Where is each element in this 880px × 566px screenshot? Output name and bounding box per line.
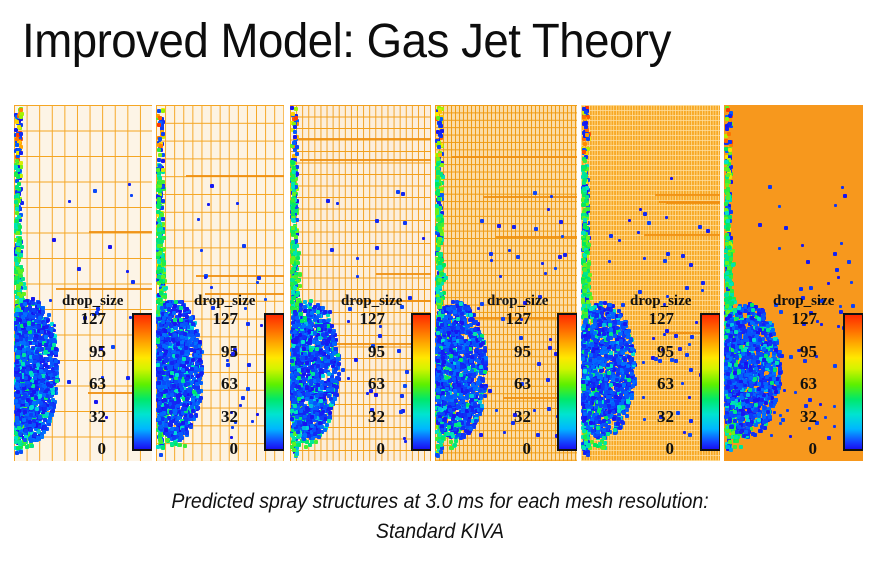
droplet <box>19 115 23 119</box>
droplet <box>314 440 318 444</box>
droplet <box>195 382 199 386</box>
droplet <box>173 411 177 415</box>
droplet <box>41 310 45 314</box>
droplet <box>157 405 161 409</box>
droplet <box>158 438 162 442</box>
droplet <box>16 404 20 408</box>
droplet <box>174 300 178 304</box>
droplet <box>32 308 36 312</box>
droplet <box>176 400 180 404</box>
droplet <box>295 152 299 156</box>
droplet <box>172 311 176 315</box>
droplet <box>157 357 161 361</box>
droplet <box>14 258 18 262</box>
droplet <box>167 328 171 332</box>
droplet <box>37 304 41 308</box>
droplet <box>292 219 296 223</box>
droplet <box>157 298 161 302</box>
droplet <box>35 386 39 390</box>
droplet <box>170 371 174 375</box>
droplet <box>230 411 233 414</box>
droplet <box>158 433 162 437</box>
droplet <box>169 357 173 361</box>
droplet <box>42 393 46 397</box>
droplet <box>17 215 21 219</box>
droplet <box>27 384 31 388</box>
droplet <box>265 401 269 405</box>
droplet <box>33 376 37 380</box>
droplet <box>25 445 29 449</box>
droplet <box>178 313 182 317</box>
droplet <box>38 316 42 320</box>
droplet <box>16 342 20 346</box>
droplet-scatter <box>156 105 284 461</box>
droplet <box>40 435 44 439</box>
droplet <box>35 407 39 411</box>
droplet <box>52 238 56 242</box>
droplet <box>157 201 161 205</box>
droplet <box>192 390 196 394</box>
droplet <box>162 316 166 320</box>
droplet <box>173 304 177 308</box>
droplet <box>185 431 189 435</box>
droplet <box>49 299 52 302</box>
droplet <box>156 168 160 172</box>
droplet <box>158 116 162 120</box>
droplet <box>43 406 47 410</box>
droplet <box>185 367 189 371</box>
droplet <box>170 361 174 365</box>
page-title: Improved Model: Gas Jet Theory <box>22 14 816 70</box>
droplet <box>256 281 259 284</box>
droplet <box>31 322 35 326</box>
droplet <box>16 284 20 288</box>
droplet <box>260 324 263 327</box>
droplet <box>162 247 166 251</box>
droplet <box>15 143 19 147</box>
droplet <box>175 354 179 358</box>
droplet <box>189 316 193 320</box>
droplet <box>230 436 233 439</box>
droplet <box>141 328 144 331</box>
droplet <box>293 209 297 213</box>
spray-panel-2: drop_size1279563320 <box>156 105 284 461</box>
droplet <box>19 161 23 165</box>
droplet <box>168 316 172 320</box>
droplet <box>327 419 331 423</box>
droplet <box>47 419 51 423</box>
droplet <box>210 286 213 289</box>
droplet <box>190 330 194 334</box>
droplet <box>189 414 193 418</box>
droplet <box>191 409 195 413</box>
droplet <box>198 340 202 344</box>
droplet <box>157 348 161 352</box>
droplet <box>43 363 47 367</box>
droplet <box>292 170 296 174</box>
droplet <box>105 416 108 419</box>
droplet <box>55 379 59 383</box>
droplet <box>194 366 198 370</box>
droplet <box>94 400 98 404</box>
droplet <box>24 308 28 312</box>
droplet <box>29 413 33 417</box>
droplet <box>194 345 198 349</box>
droplet <box>183 332 187 336</box>
droplet <box>39 357 43 361</box>
droplet <box>159 279 163 283</box>
droplet <box>183 407 187 411</box>
droplet <box>44 335 48 339</box>
droplet <box>95 311 99 315</box>
droplet <box>157 381 161 385</box>
droplet <box>290 260 294 264</box>
droplet <box>159 227 163 231</box>
droplet <box>16 168 20 172</box>
droplet <box>178 393 182 397</box>
droplet <box>39 401 43 405</box>
droplet <box>83 316 87 320</box>
droplet <box>291 316 295 320</box>
droplet <box>180 351 184 355</box>
droplet <box>38 336 42 340</box>
droplet <box>158 181 162 185</box>
droplet <box>22 418 26 422</box>
droplet <box>38 415 42 419</box>
spray-panel-3: drop_size1279563320 <box>290 105 431 461</box>
droplet <box>19 270 23 274</box>
droplet <box>17 292 21 296</box>
droplet <box>21 369 25 373</box>
droplet <box>130 194 133 197</box>
droplet <box>158 176 162 180</box>
droplet <box>204 276 207 279</box>
droplet <box>163 398 167 402</box>
droplet <box>296 256 300 260</box>
droplet <box>210 184 214 188</box>
droplet <box>54 351 58 355</box>
droplet <box>327 394 331 398</box>
droplet <box>45 412 49 416</box>
droplet <box>126 270 129 273</box>
droplet <box>291 240 295 244</box>
droplet <box>68 200 71 203</box>
droplet <box>170 393 174 397</box>
droplet <box>247 363 251 367</box>
droplet <box>48 356 52 360</box>
droplet <box>189 425 193 429</box>
droplet <box>156 210 160 214</box>
droplet <box>131 280 135 284</box>
droplet <box>14 367 18 371</box>
droplet <box>304 445 308 449</box>
droplet <box>173 333 177 337</box>
droplet <box>233 348 237 352</box>
droplet <box>19 450 23 454</box>
droplet <box>47 370 51 374</box>
droplet <box>16 308 20 312</box>
droplet <box>22 348 26 352</box>
droplet <box>297 443 301 447</box>
droplet <box>128 183 131 186</box>
droplet <box>17 346 21 350</box>
droplet <box>157 205 161 209</box>
droplet <box>303 414 307 418</box>
droplet <box>207 203 210 206</box>
droplet <box>291 226 295 230</box>
droplet <box>231 352 235 356</box>
droplet <box>53 372 57 376</box>
droplet <box>185 307 189 311</box>
droplet <box>26 347 30 351</box>
droplet <box>174 326 178 330</box>
droplet <box>50 333 54 337</box>
droplet <box>299 312 303 316</box>
droplet <box>181 428 185 432</box>
droplet <box>31 346 35 350</box>
droplet <box>54 347 58 351</box>
droplet <box>231 426 234 429</box>
droplet <box>195 405 199 409</box>
droplet <box>158 421 162 425</box>
droplet <box>77 267 81 271</box>
droplet <box>22 292 26 296</box>
droplet <box>294 275 298 279</box>
droplet <box>23 438 27 442</box>
droplet <box>226 359 229 362</box>
droplet <box>38 375 42 379</box>
droplet <box>25 361 29 365</box>
droplet <box>164 423 168 427</box>
droplet <box>158 137 162 141</box>
droplet <box>46 320 49 323</box>
droplet <box>234 421 237 424</box>
droplet <box>19 253 23 257</box>
droplet <box>29 439 33 443</box>
droplet <box>29 371 33 375</box>
droplet <box>269 407 272 410</box>
droplet <box>101 376 104 379</box>
droplet <box>169 366 173 370</box>
droplet <box>157 260 161 264</box>
droplet <box>23 410 27 414</box>
droplet <box>40 379 44 383</box>
droplet <box>161 199 165 203</box>
droplet <box>30 405 34 409</box>
droplet <box>14 270 18 274</box>
droplet <box>296 261 300 265</box>
droplet <box>16 355 20 359</box>
droplet <box>17 125 21 129</box>
droplet <box>15 185 19 189</box>
droplet <box>246 322 250 326</box>
droplet <box>196 374 200 378</box>
droplet <box>161 168 165 172</box>
droplet <box>36 436 40 440</box>
spray-panel-1: drop_size1279563320 <box>14 105 152 461</box>
droplet <box>298 273 302 277</box>
droplet <box>26 367 30 371</box>
droplet <box>328 411 332 415</box>
droplet <box>45 357 49 361</box>
droplet <box>19 108 23 112</box>
droplet <box>17 426 21 430</box>
droplet <box>49 384 53 388</box>
droplet <box>292 437 296 441</box>
droplet <box>46 376 50 380</box>
droplet <box>292 245 296 249</box>
droplet <box>164 389 168 393</box>
droplet <box>236 202 239 205</box>
droplet <box>15 360 19 364</box>
droplet <box>158 251 162 255</box>
droplet <box>186 357 190 361</box>
droplet <box>195 333 199 337</box>
droplet <box>163 287 167 291</box>
droplet <box>159 269 163 273</box>
droplet <box>327 382 331 386</box>
droplet <box>18 373 22 377</box>
droplet <box>305 440 309 444</box>
droplet <box>40 330 44 334</box>
droplet <box>18 225 22 229</box>
droplet <box>158 401 162 405</box>
droplet <box>24 429 28 433</box>
droplet <box>185 350 189 354</box>
droplet <box>26 398 30 402</box>
droplet <box>16 412 20 416</box>
droplet <box>190 325 194 329</box>
droplet <box>33 369 37 373</box>
droplet <box>39 369 43 373</box>
droplet <box>308 443 312 447</box>
droplet <box>157 218 161 222</box>
droplet <box>185 397 189 401</box>
droplet <box>23 286 27 290</box>
droplet <box>197 390 201 394</box>
droplet <box>172 436 176 440</box>
droplet <box>293 125 297 129</box>
droplet <box>325 423 329 427</box>
droplet <box>15 416 19 420</box>
droplet <box>33 338 37 342</box>
droplet <box>198 358 202 362</box>
droplet <box>291 161 295 165</box>
droplet <box>157 331 161 335</box>
droplet <box>161 371 165 375</box>
droplet <box>164 428 168 432</box>
droplet <box>161 275 165 279</box>
droplet <box>51 391 55 395</box>
droplet <box>174 380 178 384</box>
droplet <box>179 306 183 310</box>
droplet <box>47 313 51 317</box>
droplet <box>15 207 19 211</box>
droplet <box>290 282 294 286</box>
droplet-scatter <box>14 105 152 461</box>
droplet <box>159 425 163 429</box>
droplet <box>16 390 20 394</box>
droplet <box>176 342 180 346</box>
droplet <box>167 307 171 311</box>
droplet <box>256 413 259 416</box>
droplet <box>161 217 165 221</box>
droplet <box>176 404 180 408</box>
droplet <box>19 151 23 155</box>
droplet <box>21 277 25 281</box>
figure-panel-strip: drop_size1279563320drop_size1279563320dr… <box>14 105 863 461</box>
droplet <box>31 297 35 301</box>
droplet <box>293 251 297 255</box>
droplet <box>180 335 184 339</box>
droplet <box>14 313 18 317</box>
droplet <box>189 371 193 375</box>
droplet <box>28 420 32 424</box>
droplet <box>126 376 130 380</box>
droplet <box>161 159 165 163</box>
droplet <box>157 123 161 127</box>
droplet <box>257 276 261 280</box>
droplet <box>251 420 254 423</box>
droplet <box>264 298 267 301</box>
droplet <box>54 366 58 370</box>
droplet <box>111 345 115 349</box>
droplet <box>157 148 161 152</box>
droplet <box>52 343 56 347</box>
droplet <box>44 343 48 347</box>
droplet <box>293 130 297 134</box>
droplet <box>294 107 298 111</box>
droplet <box>165 438 169 442</box>
droplet <box>226 363 230 367</box>
droplet <box>160 213 164 217</box>
droplet <box>16 231 20 235</box>
droplet <box>23 330 27 334</box>
droplet <box>292 296 296 300</box>
droplet <box>132 384 135 387</box>
droplet <box>161 109 165 113</box>
droplet <box>199 348 202 351</box>
droplet <box>43 418 47 422</box>
droplet <box>16 446 20 450</box>
droplet <box>199 396 203 400</box>
droplet <box>303 305 307 309</box>
droplet <box>157 417 161 421</box>
droplet <box>170 427 174 431</box>
droplet <box>191 358 195 362</box>
droplet <box>14 276 18 280</box>
droplet <box>183 444 187 448</box>
droplet <box>164 359 168 363</box>
droplet <box>158 373 162 377</box>
droplet <box>15 137 19 141</box>
droplet <box>180 323 184 327</box>
droplet <box>239 404 242 407</box>
droplet <box>161 320 165 324</box>
droplet <box>53 324 56 327</box>
droplet <box>31 301 35 305</box>
droplet <box>292 267 296 271</box>
droplet <box>179 318 183 322</box>
droplet <box>93 189 97 193</box>
droplet <box>22 353 26 357</box>
droplet <box>164 418 168 422</box>
droplet <box>21 400 25 404</box>
droplet <box>156 188 160 192</box>
droplet <box>171 405 175 409</box>
droplet <box>291 174 295 178</box>
droplet <box>295 145 299 149</box>
